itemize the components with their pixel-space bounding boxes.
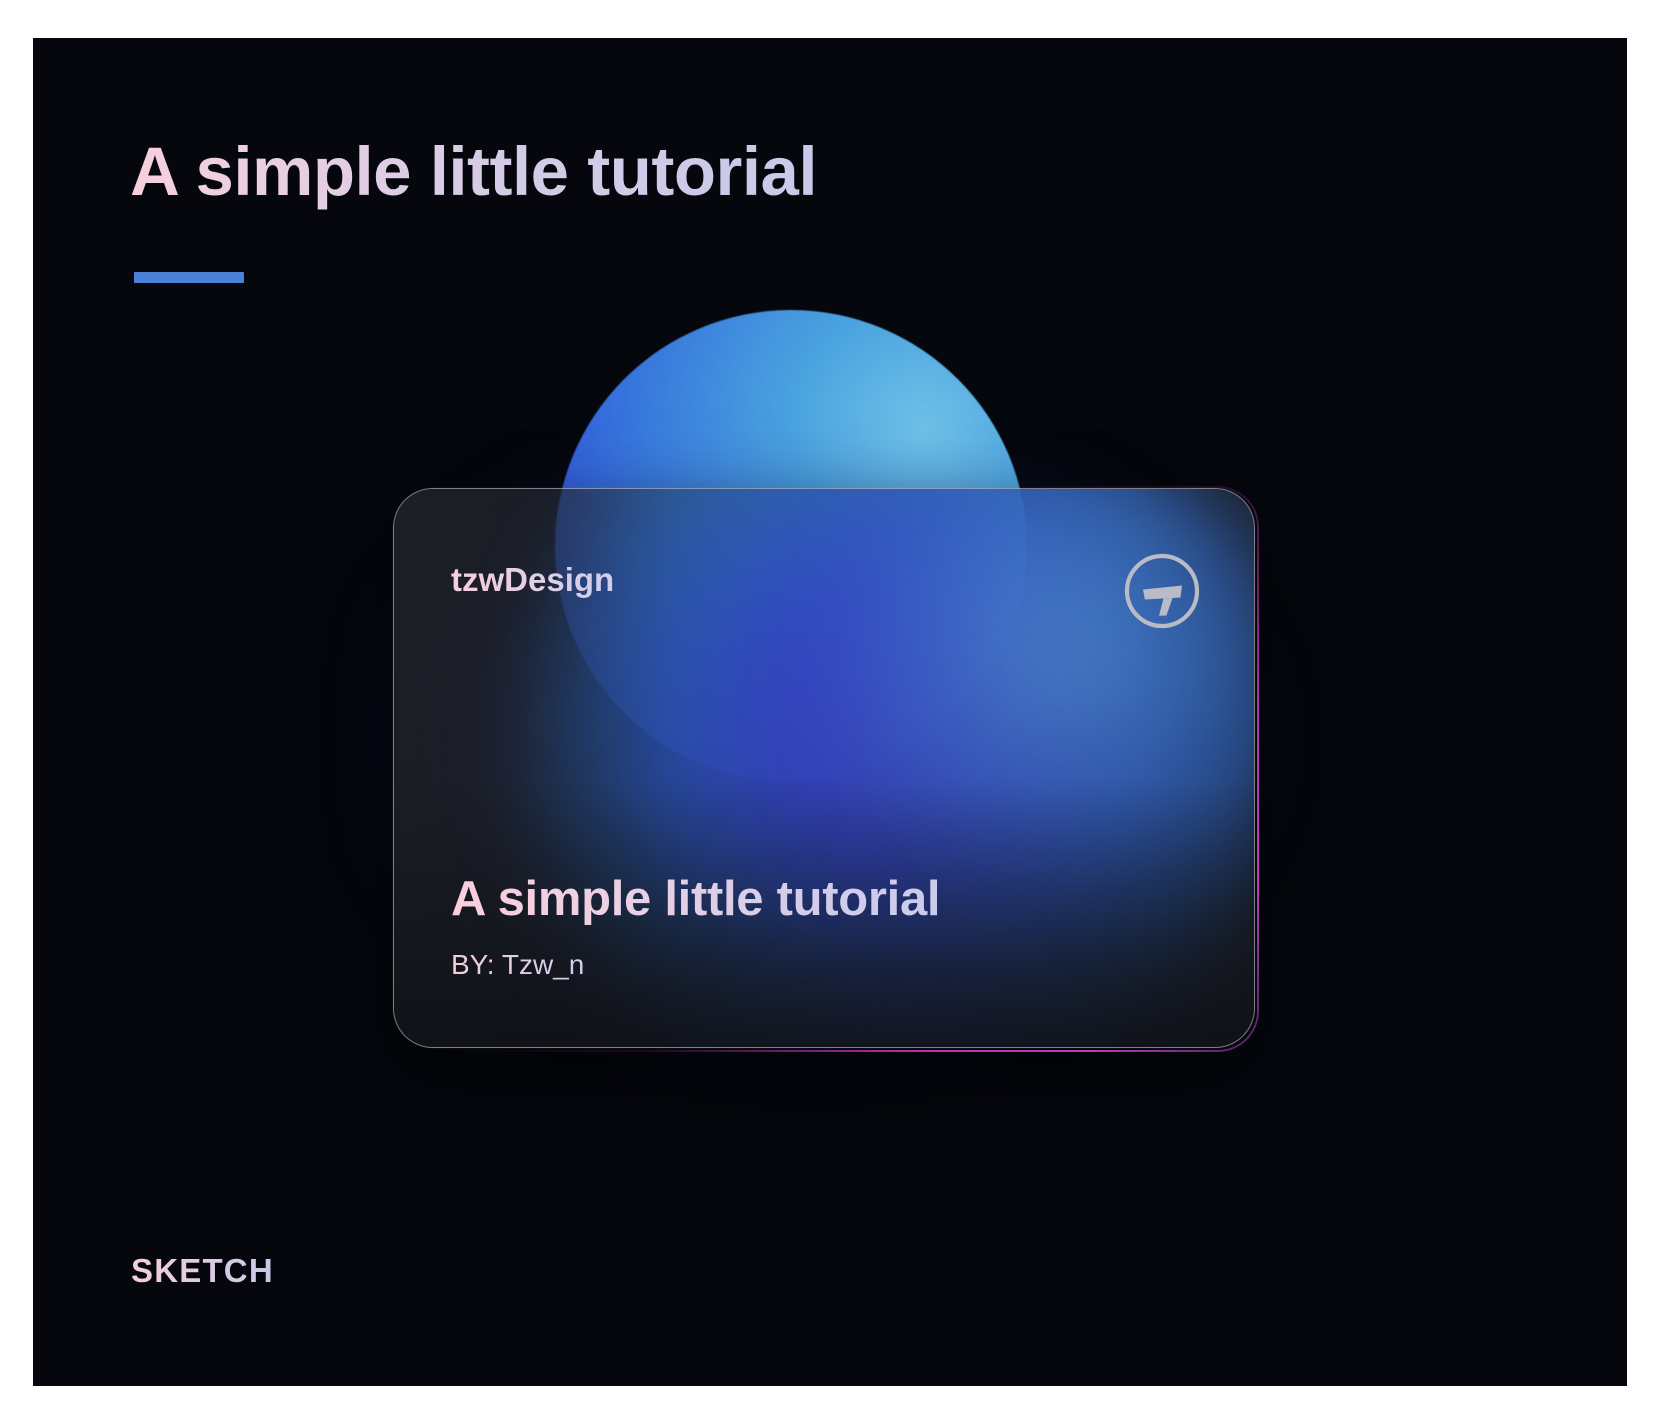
card-heading: A simple little tutorial	[451, 871, 940, 927]
design-canvas: A simple little tutorial tzwDesign	[33, 38, 1627, 1386]
card-content: tzwDesign A simple little tutorial BY: T…	[394, 489, 1254, 1047]
screenshot-stage: A simple little tutorial tzwDesign	[0, 0, 1662, 1422]
glass-card[interactable]: tzwDesign A simple little tutorial BY: T…	[393, 488, 1255, 1048]
card-brand-label: tzwDesign	[451, 561, 614, 599]
title-underline-rule	[134, 272, 244, 283]
footer-label: SKETCH	[131, 1252, 274, 1290]
page-title: A simple little tutorial	[130, 134, 817, 210]
card-byline: BY: Tzw_n	[451, 949, 584, 981]
tzw-monogram-icon[interactable]	[1120, 549, 1204, 633]
